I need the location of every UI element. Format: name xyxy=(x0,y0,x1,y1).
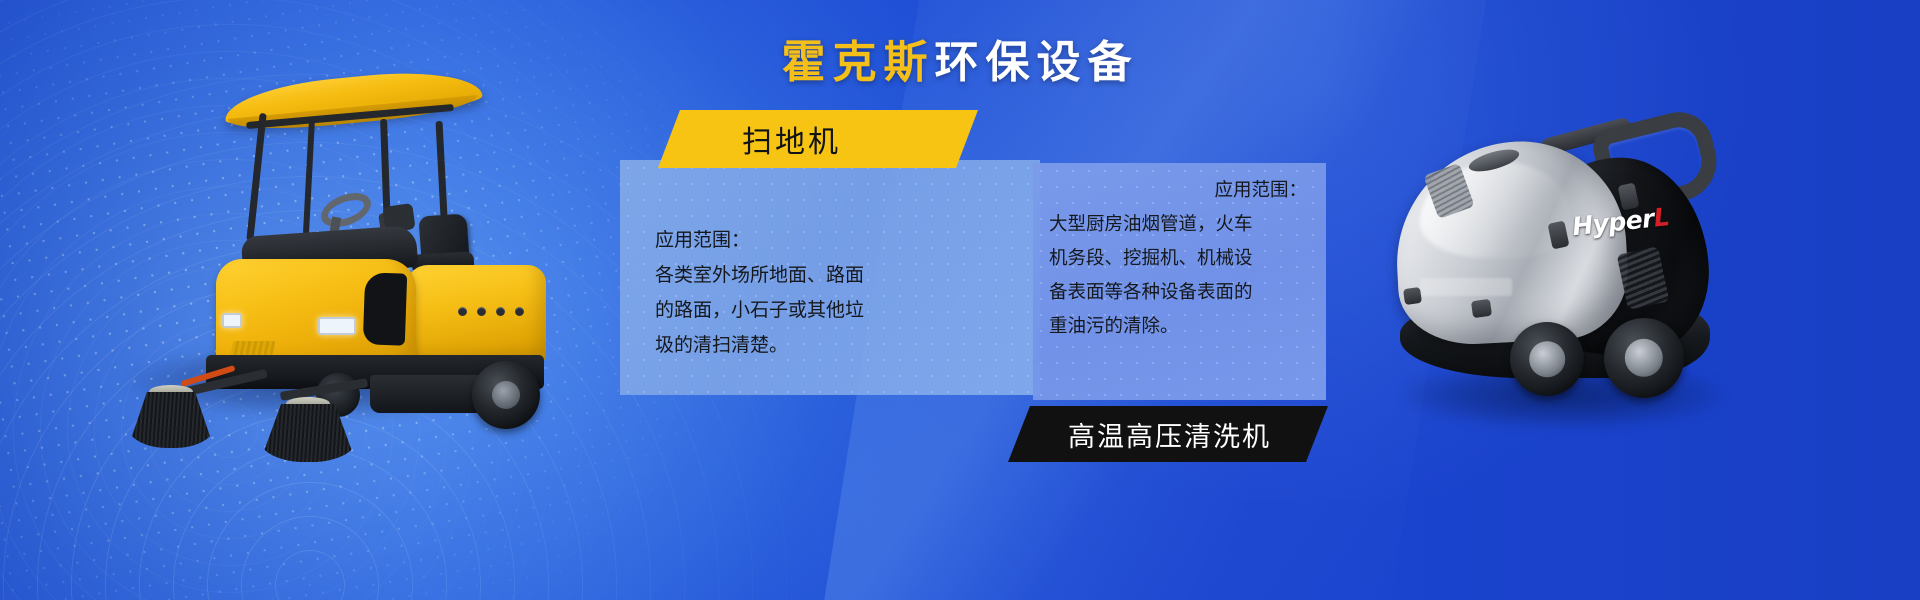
page-title-brand: 霍克斯 xyxy=(782,37,935,88)
washer-scope-lead: 应用范围： xyxy=(1049,174,1311,208)
pressure-washer-product-image: HyperL xyxy=(1390,100,1730,430)
sweeper-headlight xyxy=(318,317,356,335)
sweeper-product-image xyxy=(120,55,540,415)
sweeper-front-grille xyxy=(231,341,276,355)
sweeper-canopy-post xyxy=(435,121,447,217)
sweeper-title-label: 扫地机 xyxy=(658,117,841,161)
washer-control-label xyxy=(1420,278,1512,296)
sweeper-headlight xyxy=(222,313,242,328)
washer-wheel xyxy=(1604,318,1684,398)
sweeper-side-brush xyxy=(260,397,356,455)
page-title-rest: 环保设备 xyxy=(935,37,1139,88)
washer-control-knob xyxy=(1471,299,1492,318)
sweeper-scope-lead: 应用范围： xyxy=(655,223,1015,258)
washer-description: 应用范围：大型厨房油烟管道，火车 机务段、挖掘机、机械设 备表面等各种设备表面的… xyxy=(1049,140,1311,344)
washer-wheel-hub xyxy=(1625,339,1663,377)
sweeper-steering-wheel xyxy=(319,187,374,233)
washer-brand-accent: L xyxy=(1652,202,1670,232)
sweeper-title-ribbon[interactable]: 扫地机 xyxy=(658,110,978,168)
sweeper-side-brush xyxy=(128,385,214,441)
washer-wheel-hub xyxy=(1529,341,1565,377)
washer-title-ribbon[interactable]: 高温高压清洗机 xyxy=(1008,406,1328,462)
sweeper-canopy-post xyxy=(303,117,315,235)
sweeper-brush-bristles xyxy=(260,404,356,462)
promo-banner: 霍克斯环保设备 xyxy=(0,0,1920,600)
sweeper-brush-bristles xyxy=(128,392,214,448)
sweeper-body-vent-holes xyxy=(458,307,538,321)
washer-wheel xyxy=(1510,322,1584,396)
washer-title-label: 高温高压清洗机 xyxy=(1008,415,1271,454)
washer-scope-body: 大型厨房油烟管道，火车 机务段、挖掘机、机械设 备表面等各种设备表面的 重油污的… xyxy=(1049,214,1253,337)
washer-control-knob xyxy=(1403,287,1422,305)
sweeper-rear-wheel xyxy=(472,361,540,429)
sweeper-side-panel xyxy=(363,272,407,345)
sweeper-canopy-post xyxy=(246,113,266,241)
sweeper-description: 应用范围：各类室外场所地面、路面 的路面，小石子或其他垃 圾的清扫清楚。 xyxy=(655,188,1015,363)
sweeper-scope-body: 各类室外场所地面、路面 的路面，小石子或其他垃 圾的清扫清楚。 xyxy=(655,264,864,356)
